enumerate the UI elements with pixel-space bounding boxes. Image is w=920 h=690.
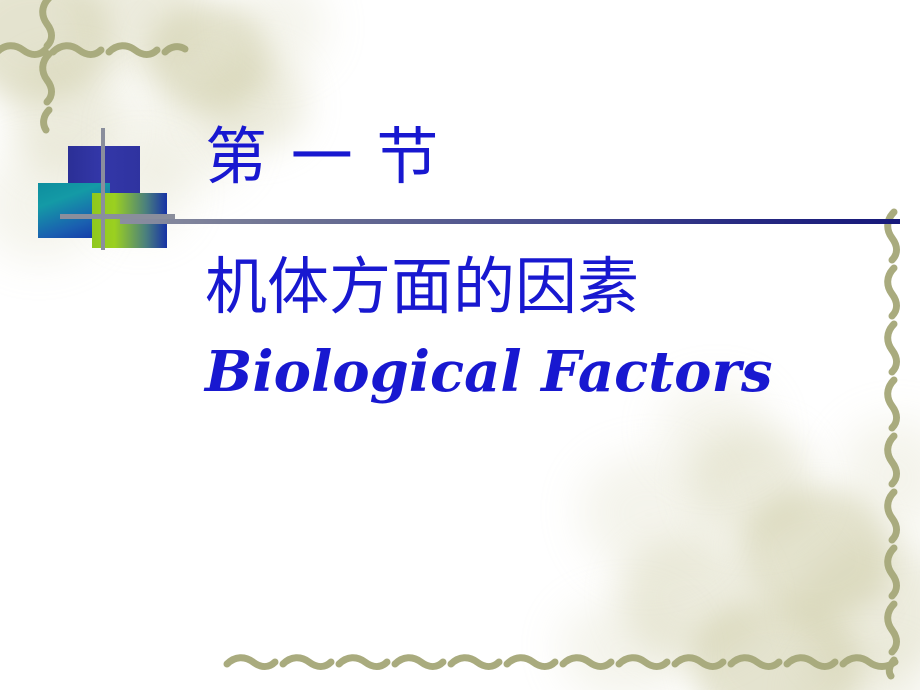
floral-blob — [690, 430, 815, 540]
floral-blob — [148, 5, 268, 110]
slide-title-english: Biological Factors — [205, 344, 773, 400]
floral-blob — [740, 490, 890, 620]
decor-wave-top-vertical — [35, 0, 63, 134]
floral-blob — [840, 420, 920, 535]
presentation-slide: 第 一 节 机体方面的因素 Biological Factors — [0, 0, 920, 690]
floral-blob — [0, 0, 110, 100]
floral-blob — [690, 600, 860, 690]
logo-crosshair-vertical — [101, 128, 105, 250]
section-heading: 第 一 节 — [205, 126, 440, 188]
floral-blob — [800, 650, 920, 690]
floral-blob — [580, 455, 715, 575]
slide-title-chinese: 机体方面的因素 — [205, 256, 639, 318]
floral-blob — [230, 0, 325, 70]
decor-wave-top-horizontal — [0, 36, 195, 62]
floral-blob — [800, 540, 920, 680]
decorative-blocks-logo — [35, 128, 175, 250]
title-divider — [120, 219, 900, 224]
floral-blob — [620, 540, 760, 660]
decor-wave-right-vertical — [880, 208, 908, 678]
floral-blob — [75, 0, 205, 75]
floral-blob — [560, 600, 690, 690]
decor-wave-bottom-horizontal — [225, 648, 905, 674]
